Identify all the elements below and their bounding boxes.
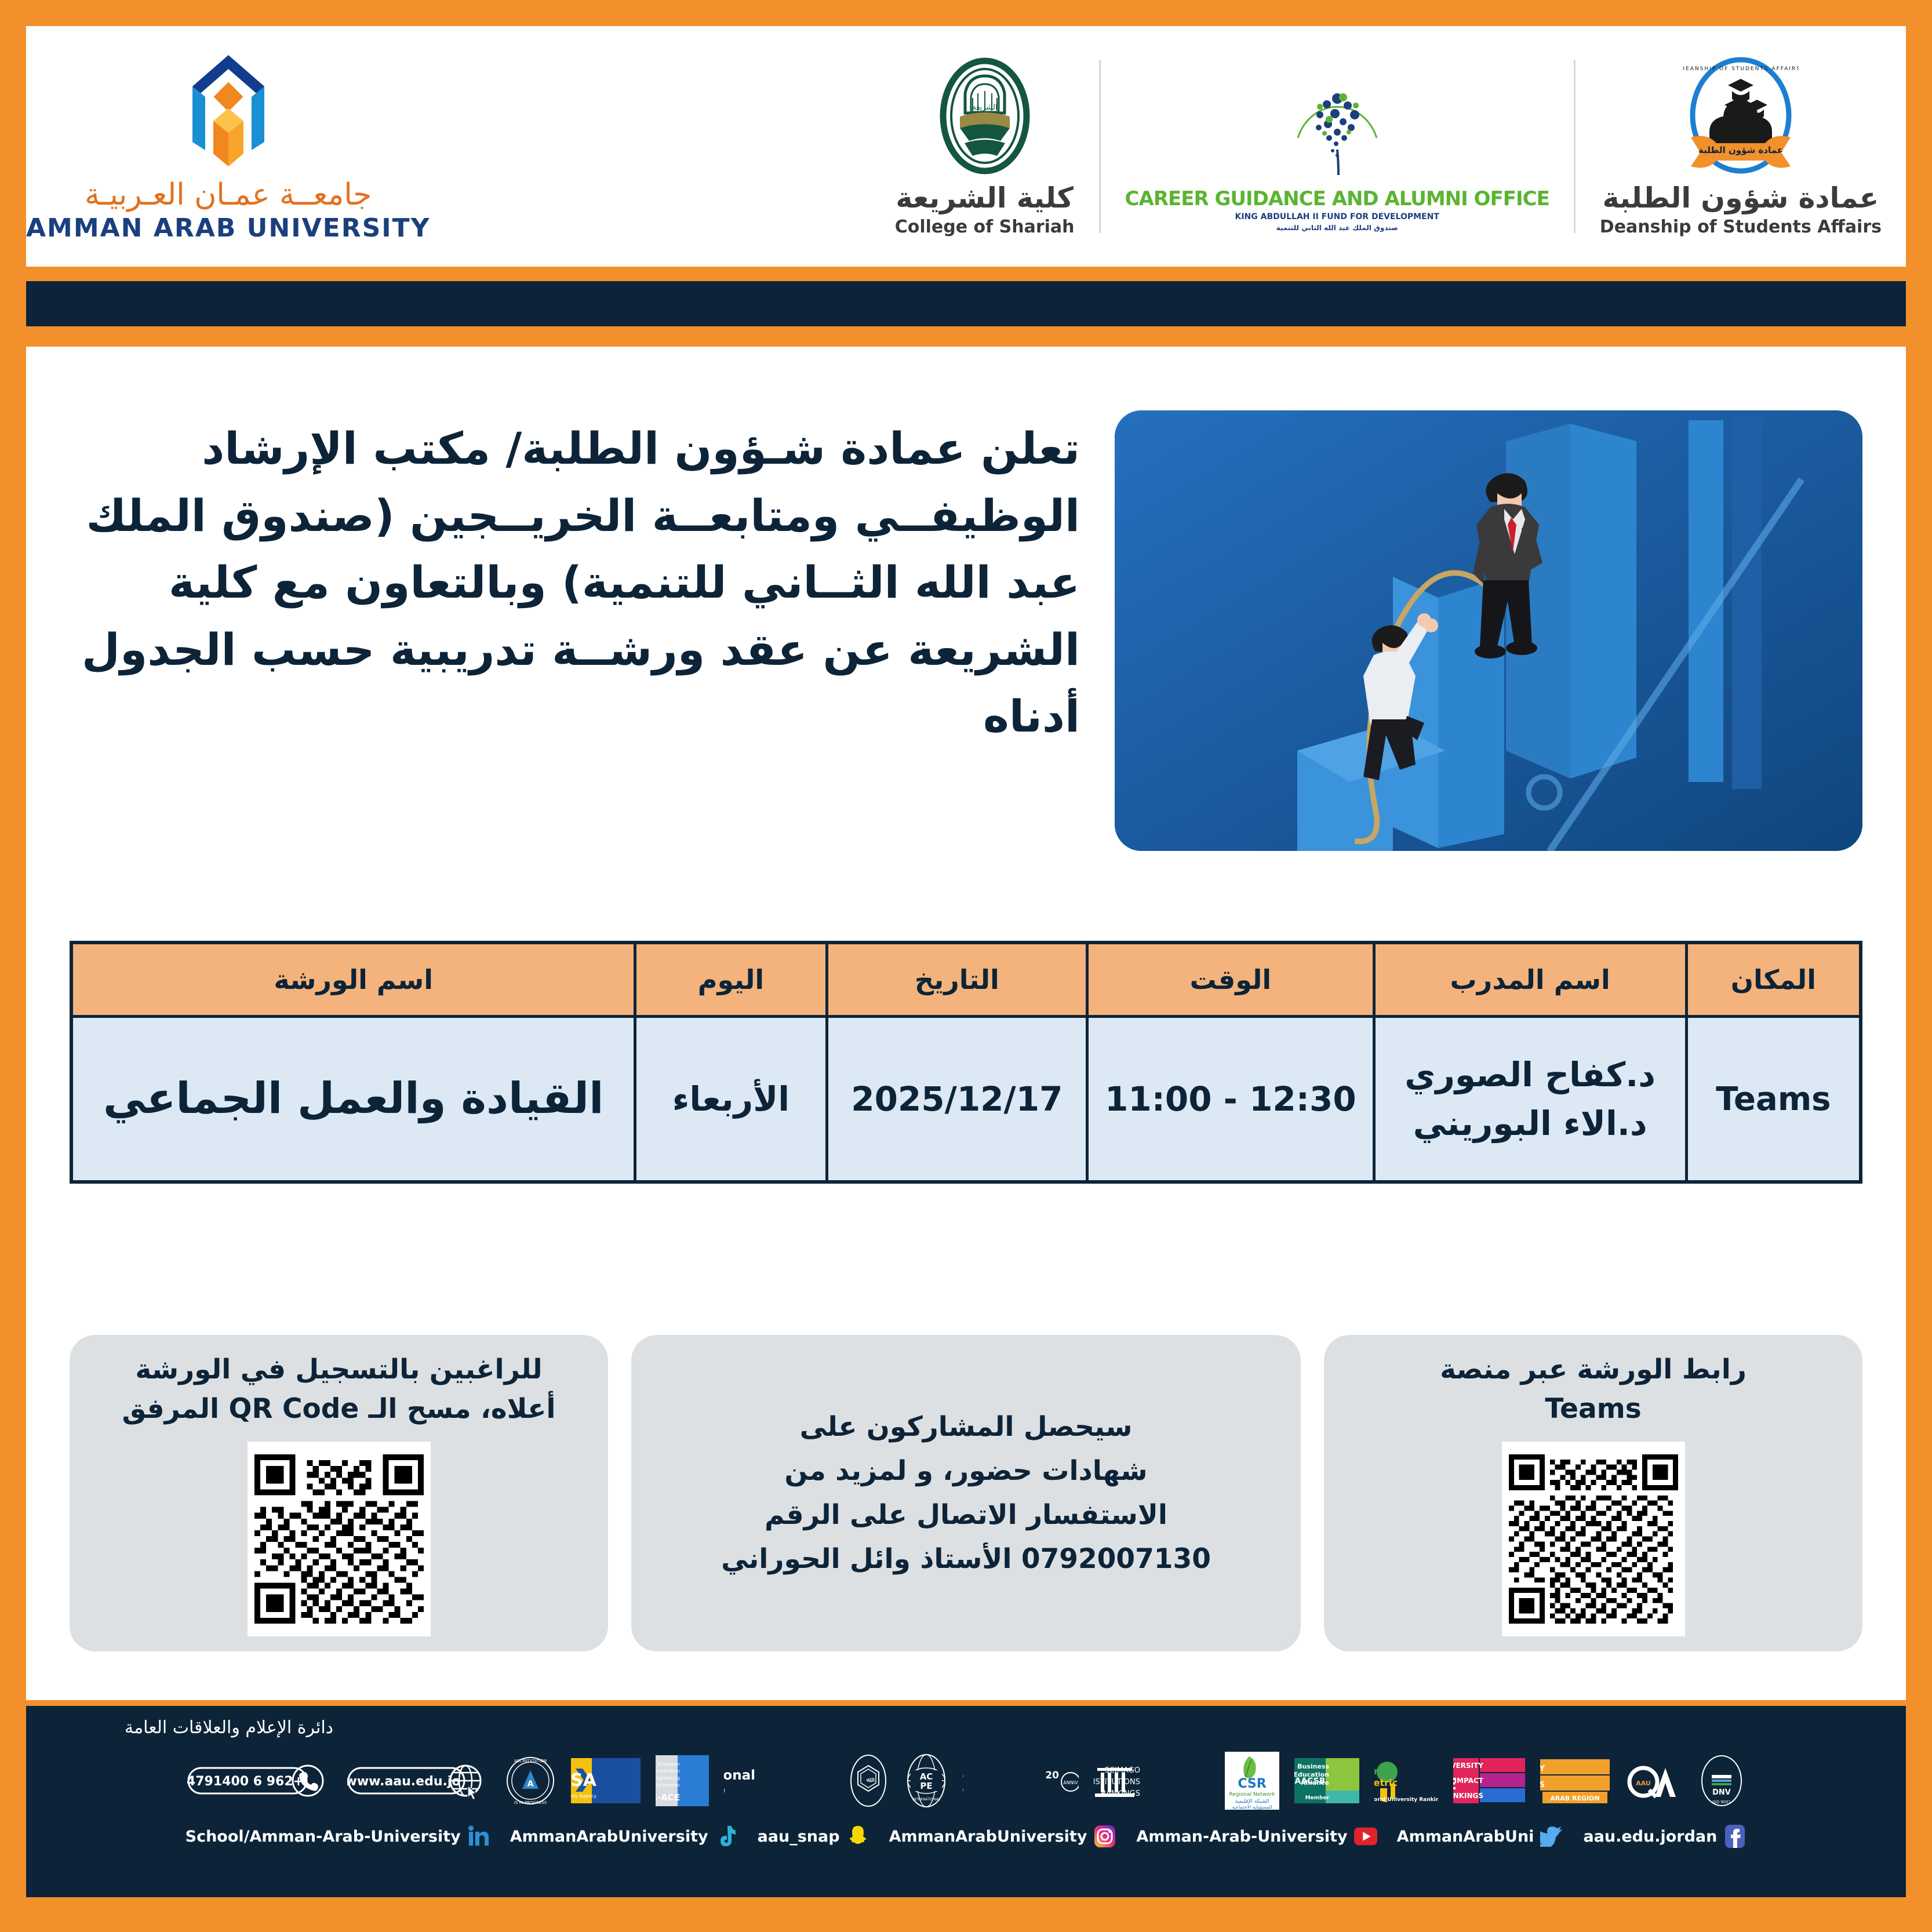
svg-text:OF UNIVERSITIES: OF UNIVERSITIES [963,1782,964,1795]
logo-label-arabic: عمادة شؤون الطلبة [1603,181,1879,214]
registration-line-1: للراغبين بالتسجيل في الورشة [135,1350,542,1389]
cell-place: Teams [1686,1017,1861,1183]
svg-text:Alliance: Alliance [1300,1779,1329,1787]
university-name-arabic: جامعــة عمـان العـربيـة [85,177,372,212]
svg-text:UNIVERSITY: UNIVERSITY [1453,1762,1483,1770]
teams-link-line-2: Teams [1545,1389,1641,1429]
tiktok-icon [715,1825,738,1848]
svg-text:DEANSHIP OF STUDENTS AFFAIRS: DEANSHIP OF STUDENTS AFFAIRS [1683,66,1799,72]
instagram-handle: AmmanArabUniversity [889,1828,1087,1846]
svg-text:Metric: Metric [1374,1777,1398,1788]
svg-text:CSR: CSR [1238,1777,1266,1791]
university-name-english: AMMAN ARAB UNIVERSITY [26,213,431,243]
snapchat-handle: aau_snap [758,1828,840,1846]
badge-qa-aau: AAU [1625,1752,1683,1810]
linkedin-icon [467,1825,490,1848]
teams-link-line-1: رابط الورشة عبر منصة [1440,1350,1747,1389]
footer-website-pill[interactable]: www.aau.edu.jo [347,1752,490,1810]
logo-sublabel-arabic: صندوق الملك عبد الله الثاني للتنمية [1276,224,1398,232]
certificate-line-3: الاستفسار الاتصال على الرقم [765,1493,1167,1537]
cell-trainer: د.كفاح الصوري د.الاء البوريني [1374,1017,1686,1183]
svg-text:PE: PE [920,1781,932,1791]
table-header-workshop: اسم الورشة [71,943,635,1017]
badge-dnv-iso-9001: DNV ISO 9001 [1698,1752,1745,1810]
social-links-row: aau.edu.jordan AmmanArabUni Amman-A [61,1825,1871,1848]
header-left-logos: عمادة شؤون الطلبة DEANSHIP OF STUDENTS A… [818,26,1906,267]
teams-meeting-qr-code[interactable] [1502,1442,1685,1636]
svg-text:RANKING WEB: RANKING WEB [963,1769,964,1781]
twitter-handle: AmmanArabUni [1397,1828,1534,1846]
certificate-line-1: سيحصل المشاركون على [800,1405,1133,1449]
poster-root: عمادة شؤون الطلبة DEANSHIP OF STUDENTS A… [0,0,1932,1932]
svg-text:الشريعة: الشريعة [972,103,997,112]
logo-label-english: CAREER GUIDANCE AND ALUMNI OFFICE [1125,189,1549,210]
table-header-time: الوقت [1087,943,1374,1017]
youtube-icon [1354,1825,1377,1848]
svg-text:الشبكة الإقليمية: الشبكة الإقليمية [1235,1799,1269,1804]
social-link-snapchat[interactable]: aau_snap [758,1825,869,1848]
svg-text:20: 20 [1045,1770,1059,1781]
badge-aacsb-business-education-alliance: AACSB Business Education Alliance Member [1294,1752,1359,1810]
badge-aab-international: AAB International The Aviation Accredita… [724,1752,832,1810]
badge-qs-university-rankings-arab-region: QS UNIVERSITY RANKINGS ARAB REGION [1540,1752,1610,1810]
social-link-linkedin[interactable]: School/Amman-Arab-University [185,1825,490,1848]
schedule-table-wrapper: المكان اسم المدرب الوقت التاريخ اليوم اس… [70,941,1862,1184]
twitter-icon [1540,1825,1563,1848]
svg-text:RANKINGS: RANKINGS [1101,1789,1140,1798]
svg-text:The Aviation Accreditation Boa: The Aviation Accreditation Board Interna… [724,1788,725,1794]
svg-text:INSTITUTIONS: INSTITUTIONS [1094,1778,1140,1787]
table-header-place: المكان [1686,943,1861,1017]
cell-day: الأربعاء [635,1017,827,1183]
youtube-handle: Amman-Arab-University [1136,1828,1347,1846]
svg-text:Member: Member [1305,1795,1329,1801]
svg-text:IMPACT: IMPACT [1454,1777,1483,1785]
social-link-youtube[interactable]: Amman-Arab-University [1136,1825,1377,1848]
badge-easa: EASA European Aviation Safety Agency [571,1752,641,1810]
cell-date: 2025/12/17 [827,1017,1087,1183]
badge-scimago-institutions-rankings: SCIMAGO INSTITUTIONS RANKINGS [1094,1752,1210,1810]
main-content-card: تعلن عمادة شـؤون الطلبة/ مكتب الإرشاد ال… [26,347,1906,1700]
deanship-crest-icon: عمادة شؤون الطلبة DEANSHIP OF STUDENTS A… [1683,56,1799,178]
svg-text:RANKINGS: RANKINGS [1453,1792,1483,1800]
badge-ui-greenmetric: Green Metric World University Ranking [1374,1752,1438,1810]
logo-deanship-of-students-affairs: عمادة شؤون الطلبة DEANSHIP OF STUDENTS A… [1576,60,1906,233]
logo-career-guidance-and-alumni-office: مكتب الإرشاد الوظيفي ومتابعة الخريجين [1101,60,1576,233]
badge-the-university-impact-rankings: THE UNIVERSITY IMPACT RANKINGS [1453,1752,1525,1810]
hero-illustration [1115,410,1862,851]
svg-text:ﷲ: ﷲ [866,1775,874,1784]
registration-qr-code[interactable] [248,1442,431,1636]
announcement-text: تعلن عمادة شـؤون الطلبة/ مكتب الإرشاد ال… [70,410,1080,750]
footer-department-label: دائرة الإعلام والعلاقات العامة [61,1718,1871,1738]
hero-row: تعلن عمادة شـؤون الطلبة/ مكتب الإرشاد ال… [70,410,1862,868]
table-header-row: المكان اسم المدرب الوقت التاريخ اليوم اس… [71,943,1861,1017]
social-link-facebook[interactable]: aau.edu.jordan [1583,1825,1747,1848]
svg-text:RANKINGS: RANKINGS [1540,1781,1545,1789]
table-header-day: اليوم [635,943,827,1017]
svg-text:INTERNATIONAL: INTERNATIONAL [912,1798,940,1802]
svg-text:عمادة شؤون الطلبة: عمادة شؤون الطلبة [1698,145,1783,155]
university-brand-lockup: جامعــة عمـان العـربيـة AMMAN ARAB UNIVE… [26,50,494,243]
tiktok-handle: AmmanArabUniversity [510,1828,708,1846]
badge-islamic-accreditation-seal: ﷲ [847,1752,890,1810]
badge-csr-regional-network: CSR Regional Network الشبكة الإقليمية لل… [1225,1752,1279,1810]
svg-text:Education: Education [1294,1771,1329,1778]
cell-time: 12:30 - 11:00 [1087,1017,1374,1183]
facebook-icon [1723,1825,1747,1848]
logo-label-english: College of Shariah [895,217,1075,237]
svg-text:ISO 9001: ISO 9001 [1712,1800,1730,1804]
card-registration: للراغبين بالتسجيل في الورشة أعلاه، مسح ا… [70,1335,608,1651]
instagram-icon [1093,1825,1116,1848]
svg-text:European: European [657,1762,679,1767]
cell-trainer-line-2: د.الاء البوريني [1381,1099,1679,1148]
social-link-tiktok[interactable]: AmmanArabUniversity [510,1825,738,1848]
svg-text:www.aau.edu.jo: www.aau.edu.jo [347,1774,460,1789]
social-link-instagram[interactable]: AmmanArabUniversity [889,1825,1117,1848]
svg-text:ANNIV: ANNIV [1063,1780,1078,1785]
svg-text:World University Ranking: World University Ranking [1374,1797,1438,1803]
svg-text:ARAB REGION: ARAB REGION [1550,1795,1599,1802]
logo-sublabel-english: KING ABDULLAH II FUND FOR DEVELOPMENT [1235,212,1439,221]
header-logo-band: عمادة شؤون الطلبة DEANSHIP OF STUDENTS A… [26,26,1906,267]
svg-text:SCIMAGO: SCIMAGO [1104,1766,1140,1775]
linkedin-handle: School/Amman-Arab-University [185,1828,461,1846]
table-header-trainer: اسم المدرب [1374,943,1686,1017]
certificate-contact-line: 0792007130 الأستاذ وائل الحوراني [721,1537,1211,1581]
badge-accreditation-in-progress: A ACCREDITATION IS IN PROGRESS [505,1752,556,1810]
svg-text:Programmes: Programmes [656,1782,680,1788]
social-link-twitter[interactable]: AmmanArabUni [1397,1825,1564,1848]
card-teams-link: رابط الورشة عبر منصة Teams [1324,1335,1862,1651]
svg-text:للمسؤولية الاجتماعية: للمسؤولية الاجتماعية [1232,1804,1272,1810]
schedule-table: المكان اسم المدرب الوقت التاريخ اليوم اس… [70,941,1862,1184]
header-divider-strip [26,281,1906,326]
card-certificate-and-contact: سيحصل المشاركون على شهادات حضور، و لمزيد… [631,1335,1301,1651]
svg-text:European Aviation Safety Agenc: European Aviation Safety Agency [571,1793,596,1799]
svg-text:Business: Business [1297,1763,1329,1770]
info-cards-row: للراغبين بالتسجيل في الورشة أعلاه، مسح ا… [70,1335,1862,1651]
svg-text:Accreditation: Accreditation [656,1769,680,1774]
svg-text:Regional Network: Regional Network [1229,1792,1275,1798]
amman-arab-university-logo-icon [165,50,292,177]
footer-phone-pill[interactable]: +962 6 4791400 [187,1752,332,1810]
svg-text:IS IN PROGRESS: IS IN PROGRESS [514,1800,547,1805]
accreditation-badges-row: DNV ISO 9001 AAU QS UNIVERSITY [61,1746,1871,1815]
certificate-line-2: شهادات حضور، و لمزيد من [784,1449,1147,1493]
svg-text:مكتب الإرشاد الوظيفي ومتابعة ا: مكتب الإرشاد الوظيفي ومتابعة الخريجين [1279,63,1283,64]
registration-line-2: أعلاه، مسح الـ QR Code المرفق [122,1389,555,1429]
badge-ranking-web-of-universities: RANKING WEB OF UNIVERSITIES 20 ANNIV [963,1752,1079,1810]
svg-text:Green: Green [1374,1766,1398,1777]
table-row: Teams د.كفاح الصوري د.الاء البوريني 12:3… [71,1017,1861,1183]
cell-workshop: القيادة والعمل الجماعي [71,1017,635,1183]
svg-text:+962 6 4791400: +962 6 4791400 [187,1774,304,1789]
svg-text:DNV: DNV [1712,1788,1731,1797]
footer: دائرة الإعلام والعلاقات العامة DNV ISO 9… [26,1706,1906,1897]
college-of-shariah-crest-icon: الشريعة [930,56,1040,178]
cell-trainer-line-1: د.كفاح الصوري [1381,1050,1679,1099]
snapchat-icon [846,1825,869,1848]
svg-text:A: A [527,1780,533,1789]
svg-text:of Engineering: of Engineering [656,1775,680,1781]
table-header-date: التاريخ [827,943,1087,1017]
svg-text:ACCREDITATION: ACCREDITATION [514,1759,546,1763]
logo-label-english: Deanship of Students Affairs [1600,217,1882,237]
svg-text:AAU: AAU [1636,1780,1651,1787]
svg-text:International: International [724,1768,755,1783]
career-guidance-tree-icon: مكتب الإرشاد الوظيفي ومتابعة الخريجين [1279,61,1395,185]
logo-college-of-shariah: الشريعة كلية الشريعة College of Shariah [871,60,1101,233]
svg-text:QS UNIVERSITY: QS UNIVERSITY [1540,1764,1545,1773]
svg-text:EASA: EASA [571,1770,597,1791]
svg-text:EUR-ACE: EUR-ACE [656,1792,680,1803]
badge-acpe-international: AC PE INTERNATIONAL [905,1752,948,1810]
badge-eur-ace: European Accreditation of Engineering Pr… [656,1752,709,1810]
logo-label-arabic: كلية الشريعة [896,181,1074,214]
facebook-handle: aau.edu.jordan [1583,1828,1717,1846]
